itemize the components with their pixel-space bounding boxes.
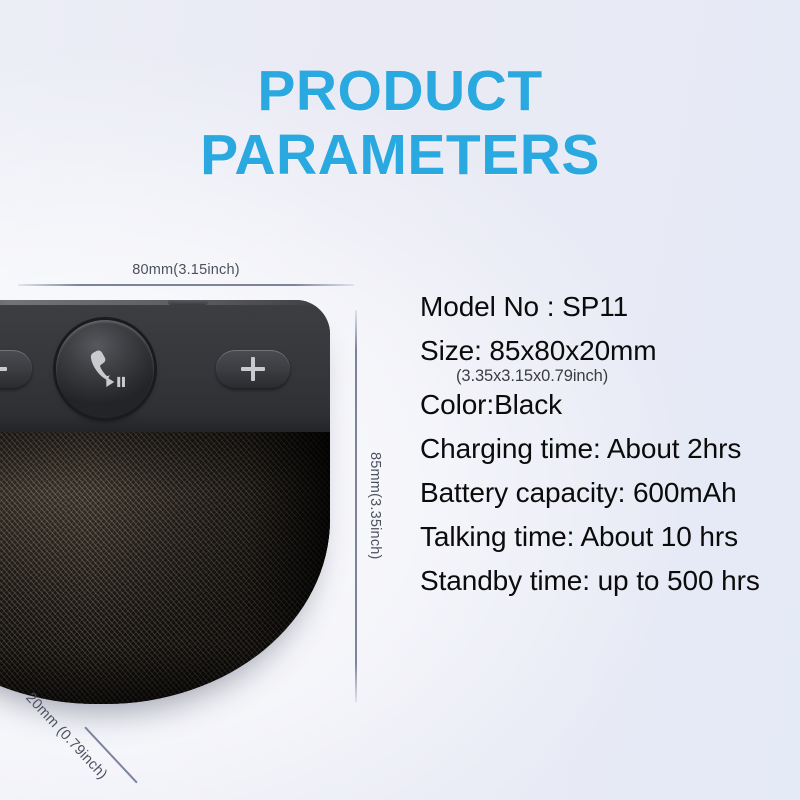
- specification-list: Model No : SP11 Size: 85x80x20mm (3.35x3…: [420, 293, 792, 611]
- spec-talking-time: Talking time: About 10 hrs: [420, 523, 792, 551]
- grille-shading: [0, 432, 330, 704]
- spec-size: Size: 85x80x20mm: [420, 337, 792, 365]
- control-deck: [0, 300, 330, 432]
- product-parameters-page: PRODUCT PARAMETERS: [0, 0, 800, 800]
- volume-down-button[interactable]: [0, 350, 32, 388]
- dimension-height-label: 85mm(3.35inch): [367, 452, 383, 560]
- spec-battery-capacity: Battery capacity: 600mAh: [420, 479, 792, 507]
- volume-up-button[interactable]: [216, 350, 290, 388]
- spec-standby-time: Standby time: up to 500 hrs: [420, 567, 792, 595]
- page-title: PRODUCT PARAMETERS: [0, 62, 800, 184]
- call-answer-play-pause-button[interactable]: [56, 320, 154, 418]
- deck-highlight: [0, 300, 330, 305]
- dimension-width-line: [18, 284, 354, 286]
- dimension-width-label: 80mm(3.15inch): [18, 262, 354, 278]
- phone-play-pause-icon: [77, 341, 133, 397]
- page-title-line2: PARAMETERS: [0, 126, 800, 184]
- speaker-grille: [0, 432, 330, 704]
- product-image: [0, 300, 342, 710]
- dimension-height: 85mm(3.35inch): [355, 310, 383, 702]
- spec-charging-time: Charging time: About 2hrs: [420, 435, 792, 463]
- spec-color: Color:Black: [420, 391, 792, 419]
- speakerphone-body: [0, 300, 330, 704]
- dimension-height-line: [355, 310, 357, 702]
- dimension-width: 80mm(3.15inch): [18, 262, 354, 286]
- plus-icon: [241, 357, 265, 381]
- page-title-line1: PRODUCT: [0, 62, 800, 120]
- top-edge-nub: [168, 300, 208, 305]
- spec-model-no: Model No : SP11: [420, 293, 792, 321]
- spec-size-inches: (3.35x3.15x0.79inch): [456, 367, 792, 386]
- minus-icon: [0, 367, 7, 371]
